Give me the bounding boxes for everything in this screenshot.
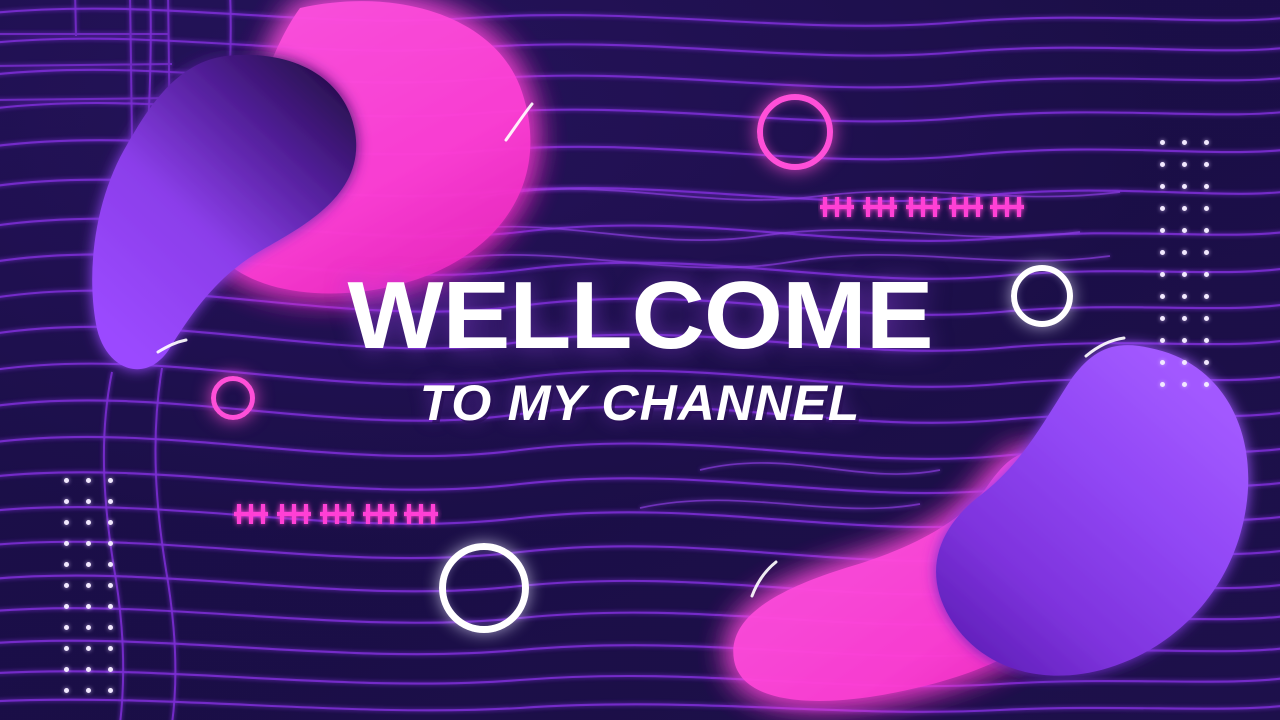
page-title: WELLCOME (0, 268, 1280, 364)
page-subtitle: TO MY CHANNEL (0, 376, 1280, 430)
welcome-banner: WELLCOME TO MY CHANNEL (0, 0, 1280, 720)
headline-block: WELLCOME TO MY CHANNEL (0, 268, 1280, 430)
